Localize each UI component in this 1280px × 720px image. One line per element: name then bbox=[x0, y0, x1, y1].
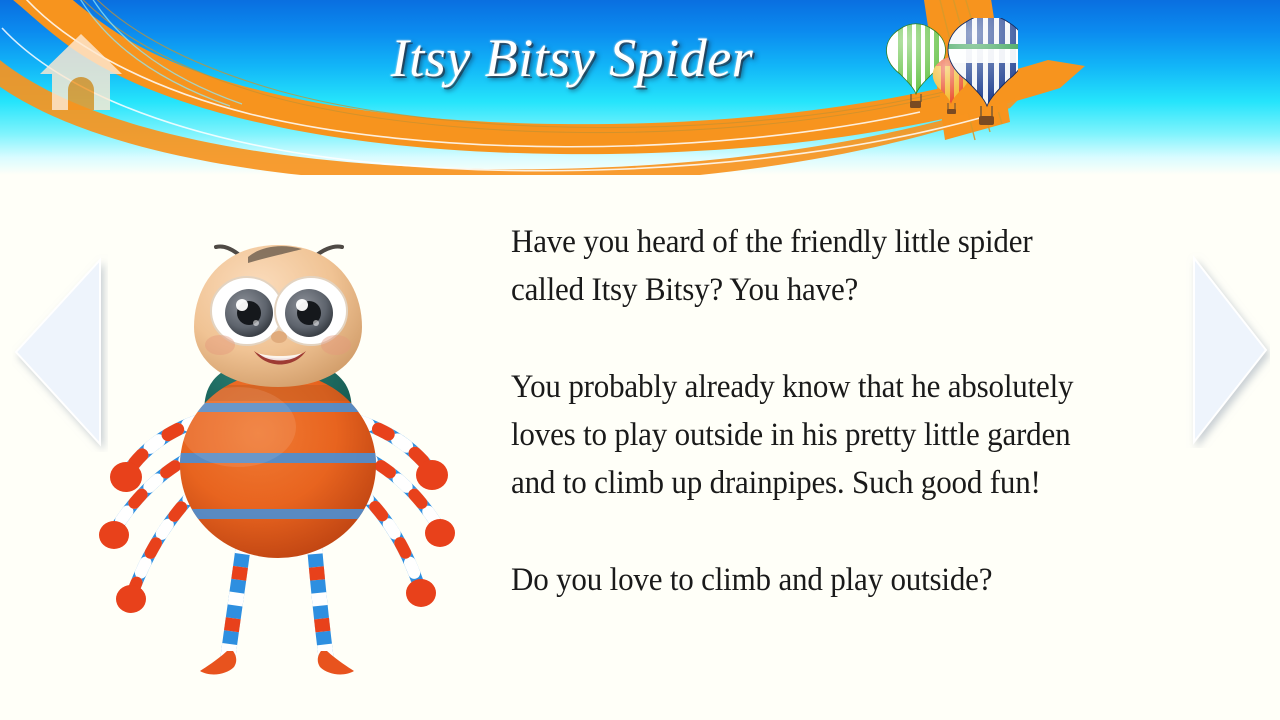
story-paragraph-3: Do you love to climb and play outside? bbox=[511, 556, 1113, 604]
story-text-block: Have you heard of the friendly little sp… bbox=[511, 218, 1151, 604]
story-paragraph-1: Have you heard of the friendly little sp… bbox=[511, 218, 1113, 314]
storybook-page: Itsy Bitsy Spider bbox=[0, 0, 1280, 720]
next-page-arrow[interactable] bbox=[1186, 252, 1270, 448]
page-header: Itsy Bitsy Spider bbox=[0, 0, 1280, 175]
foot-right bbox=[318, 651, 354, 674]
chevron-right-icon bbox=[1194, 258, 1266, 442]
itsy-bitsy-spider-character bbox=[88, 205, 468, 675]
leg-front-left bbox=[200, 541, 244, 674]
nose bbox=[271, 331, 287, 343]
spider-standing-legs bbox=[200, 541, 354, 674]
leg-front-right bbox=[314, 541, 354, 674]
spider-head bbox=[194, 245, 362, 387]
paragraph-spacer bbox=[511, 314, 1151, 363]
cheek-left bbox=[205, 335, 235, 355]
foot-left bbox=[200, 651, 236, 674]
cheek-right bbox=[321, 335, 351, 355]
paragraph-spacer bbox=[511, 507, 1151, 556]
page-title: Itsy Bitsy Spider bbox=[0, 26, 1280, 90]
story-paragraph-2: You probably already know that he absolu… bbox=[511, 363, 1113, 507]
